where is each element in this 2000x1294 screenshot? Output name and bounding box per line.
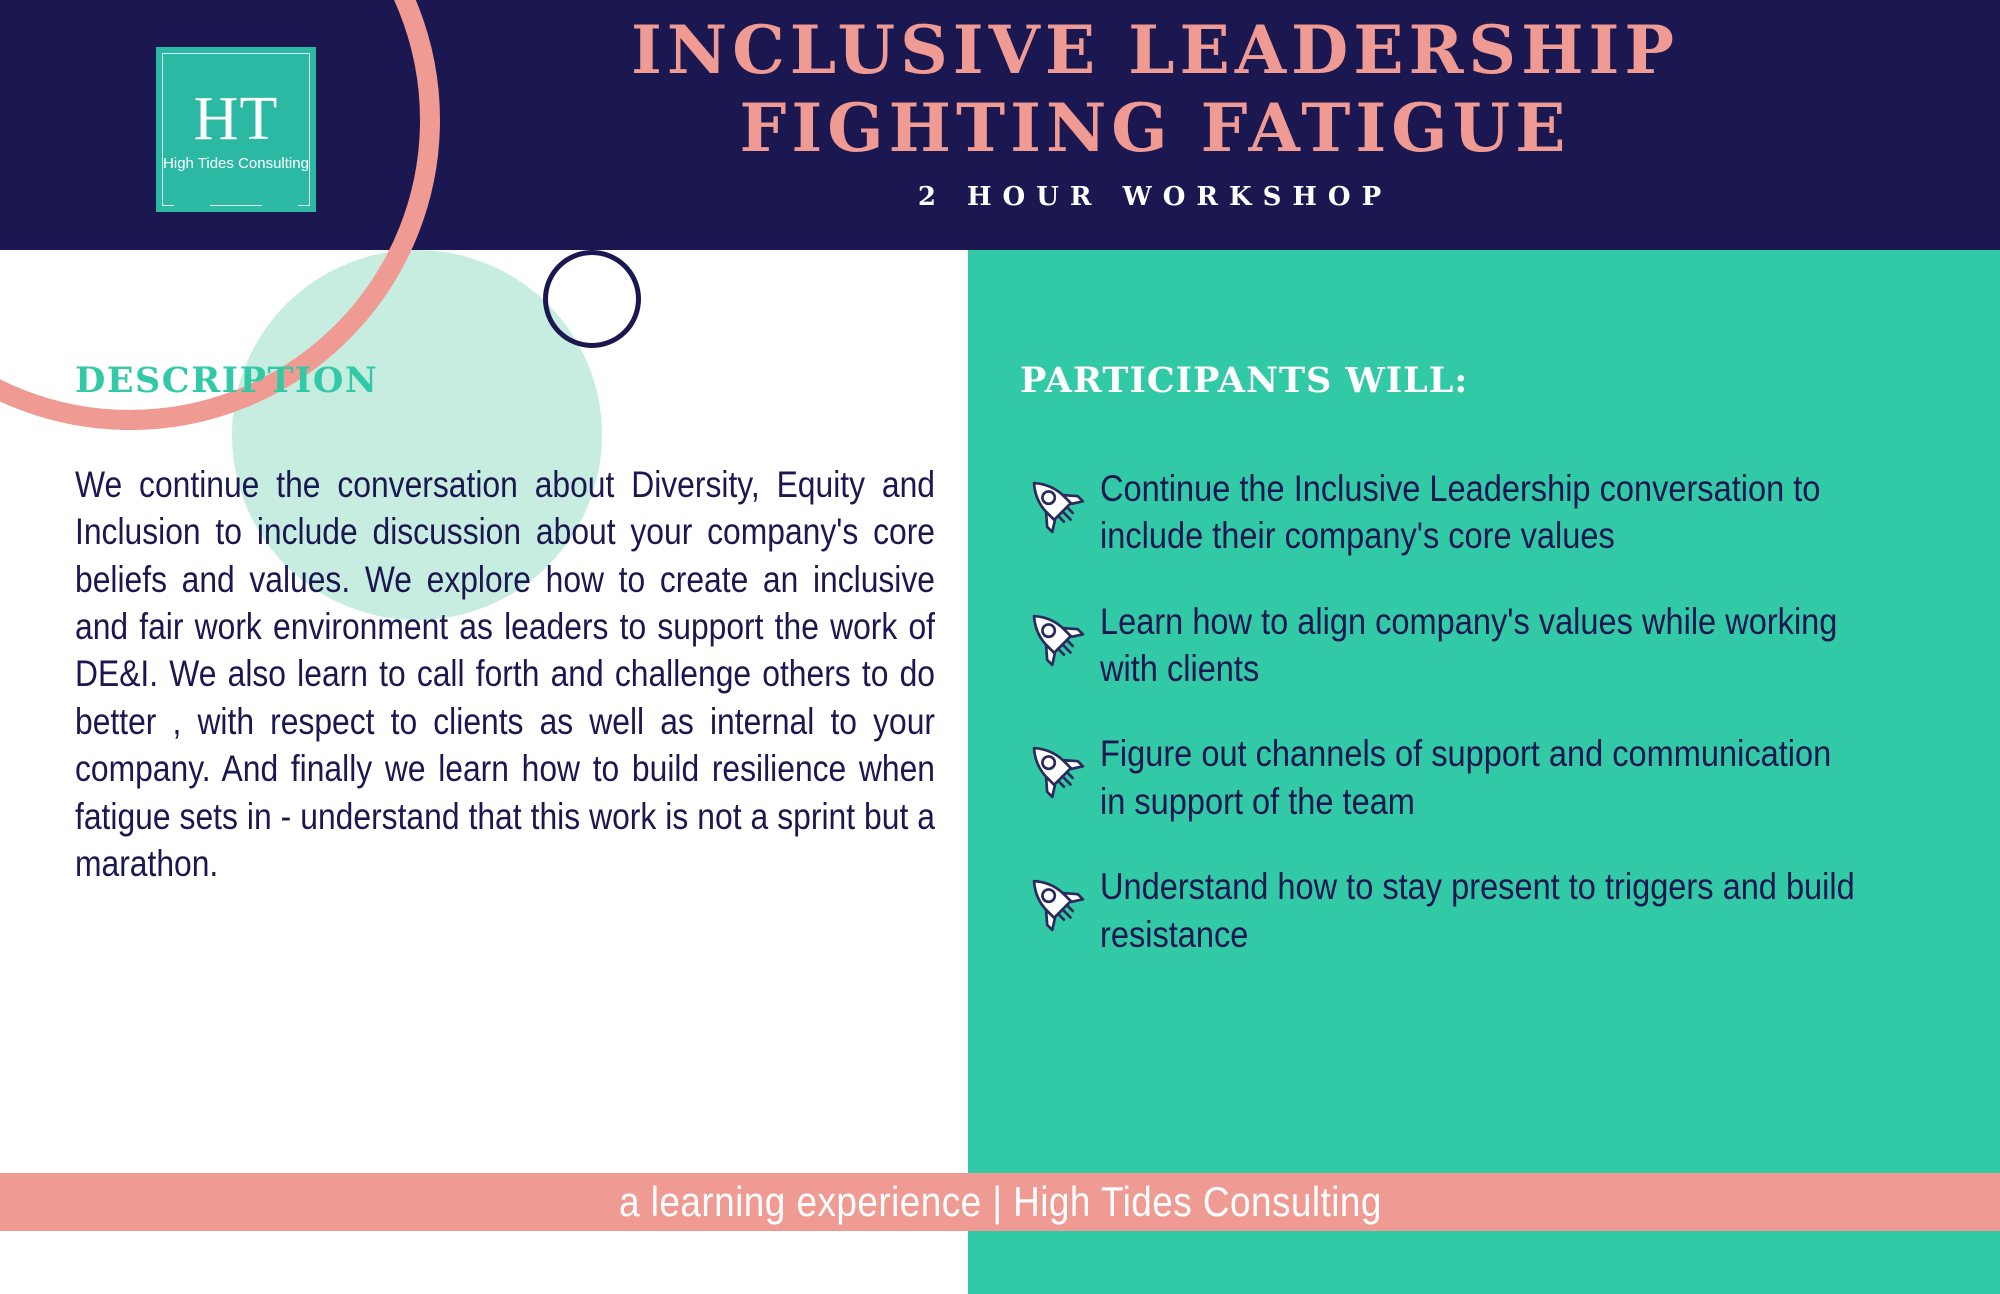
footer-banner: a learning experience | High Tides Consu… [0,1173,2000,1231]
participants-outcome-list: Continue the Inclusive Leadership conver… [1020,465,1960,958]
workshop-flyer: HT High Tides Consulting INCLUSIVE LEADE… [0,0,2000,1294]
list-item: Learn how to align company's values whil… [1020,598,1960,693]
flyer-title-line-2: FIGHTING FATIGUE [430,90,1880,168]
list-item: Continue the Inclusive Leadership conver… [1020,465,1960,560]
rocket-icon [1020,867,1086,933]
rocket-icon [1020,469,1086,535]
participants-section: PARTICIPANTS WILL: Continue the Inclu [1020,360,1960,958]
description-body-text: We continue the conversation about Diver… [75,461,935,887]
footer-tagline: a learning experience | High Tides Consu… [619,1181,1382,1223]
navy-circle-outline-decoration [543,250,641,348]
rocket-icon [1020,602,1086,668]
header-text-group: INCLUSIVE LEADERSHIP FIGHTING FATIGUE 2 … [430,12,1880,212]
list-item: Figure out channels of support and commu… [1020,730,1960,825]
list-item-label: Learn how to align company's values whil… [1100,598,1857,693]
participants-heading: PARTICIPANTS WILL: [1020,360,1960,401]
list-item-label: Continue the Inclusive Leadership conver… [1100,465,1857,560]
list-item-label: Figure out channels of support and commu… [1100,730,1857,825]
description-section: DESCRIPTION We continue the conversation… [75,360,930,887]
flyer-subtitle: 2 HOUR WORKSHOP [430,182,1880,212]
description-heading: DESCRIPTION [75,360,930,401]
list-item: Understand how to stay present to trigge… [1020,863,1960,958]
flyer-title-line-1: INCLUSIVE LEADERSHIP [430,12,1880,90]
rocket-icon [1020,734,1086,800]
list-item-label: Understand how to stay present to trigge… [1100,863,1857,958]
